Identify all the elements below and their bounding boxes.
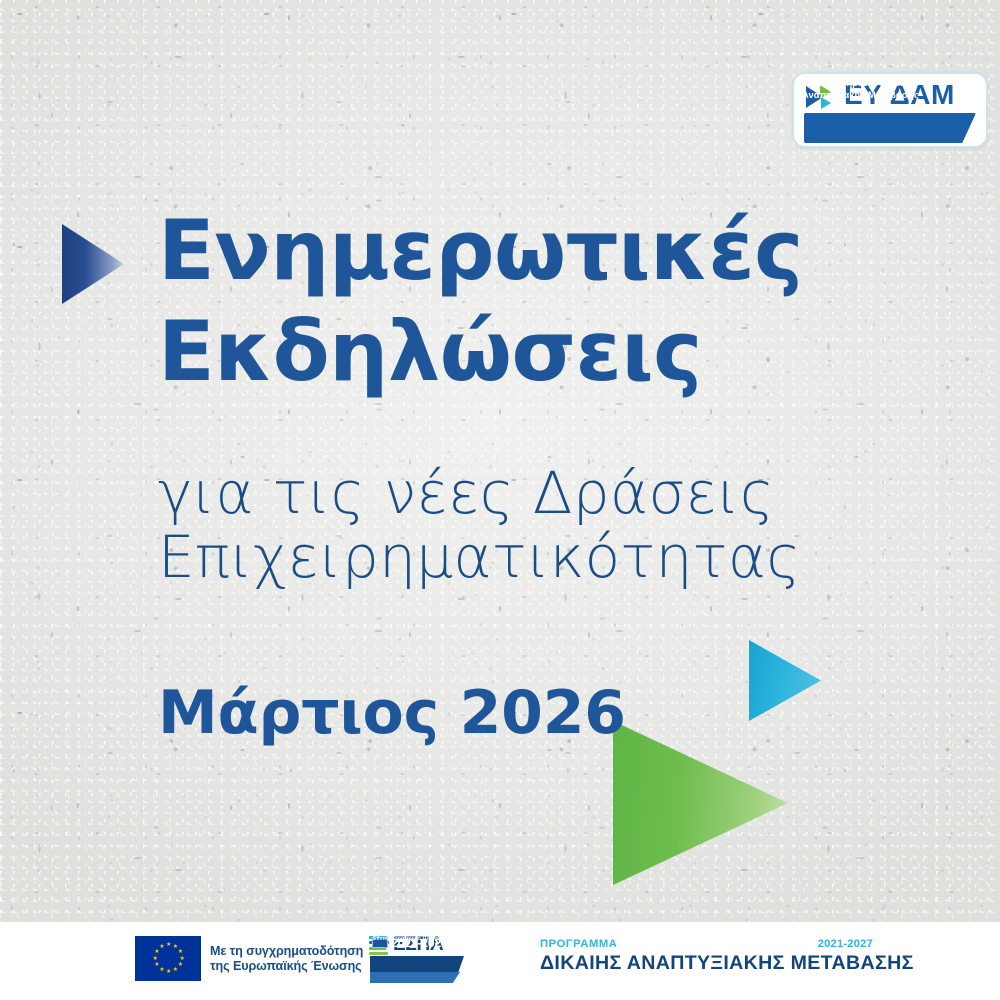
eu-star-icon: ★: [159, 968, 163, 972]
subtitle-line-2: Επιχειρηματικότητας: [158, 526, 958, 590]
programme-title: ΔΙΚΑΙΗΣ ΑΝΑΠΤΥΞΙΑΚΗΣ ΜΕΤΑΒΑΣΗΣ: [540, 952, 880, 975]
eydam-logo-inner: ΕΥ ΔΑΜ Ειδική Υπηρεσία Δίκαιης Αναπτυξια…: [794, 74, 986, 146]
eu-star-icon: ★: [178, 950, 182, 954]
page-title: Ενημερωτικές Εκδηλώσεις: [158, 210, 898, 393]
headline-line-2: Εκδηλώσεις: [158, 311, 898, 392]
programme-years: 2021-2027: [818, 938, 873, 950]
eu-star-icon: ★: [154, 950, 158, 954]
eydam-logo-card[interactable]: ΕΥ ΔΑΜ Ειδική Υπηρεσία Δίκαιης Αναπτυξια…: [792, 72, 988, 148]
programme-lockup: ΠΡΟΓΡΑΜΜΑ 2021-2027 ΔΙΚΑΙΗΣ ΑΝΑΠΤΥΞΙΑΚΗΣ…: [540, 938, 880, 975]
espa-years-bar: [370, 956, 464, 972]
footer-bar: ★★★★★★★★★★★★ Με τη συγχρηματοδότηση της …: [0, 922, 1000, 1000]
eu-star-icon: ★: [166, 970, 170, 974]
espa-tagline: Εθνικό Στρατηγικό Πλαίσιο Αναφοράς: [373, 936, 471, 942]
eydam-banner-text: Ειδική Υπηρεσία Δίκαιης Αναπτυξιακής Μετ…: [802, 77, 919, 101]
eu-star-icon: ★: [178, 963, 182, 967]
eu-star-icon: ★: [173, 945, 177, 949]
eu-star-icon: ★: [159, 945, 163, 949]
eu-flag-icon: ★★★★★★★★★★★★: [135, 936, 201, 981]
eu-star-icon: ★: [166, 943, 170, 947]
subtitle-line-1: για τις νέες Δράσεις: [158, 462, 958, 526]
eu-star-icon: ★: [180, 957, 184, 961]
eu-star-icon: ★: [154, 963, 158, 967]
espa-logo: ΕΣΠΑ 2021-2027 Εθνικό Στρατηγικό Πλαίσιο…: [369, 934, 467, 984]
eu-cofunding-text: Με τη συγχρηματοδότηση της Ευρωπαϊκής Έν…: [210, 944, 363, 974]
programme-top-row: ΠΡΟΓΡΑΜΜΑ 2021-2027: [540, 938, 873, 950]
eu-cofunding-lockup: ★★★★★★★★★★★★ Με τη συγχρηματοδότηση της …: [135, 936, 363, 981]
eu-star-icon: ★: [173, 968, 177, 972]
eydam-banner: [804, 113, 976, 143]
headline-line-1: Ενημερωτικές: [158, 210, 898, 291]
programme-kicker: ΠΡΟΓΡΑΜΜΑ: [540, 938, 617, 950]
poster-canvas: ΕΥ ΔΑΜ Ειδική Υπηρεσία Δίκαιης Αναπτυξια…: [0, 0, 1000, 1000]
eu-star-icon: ★: [153, 957, 157, 961]
page-subtitle: για τις νέες Δράσεις Επιχειρηματικότητας: [158, 462, 958, 590]
event-date: Μάρτιος 2026: [158, 678, 626, 748]
espa-tagline-bar: [370, 972, 460, 983]
